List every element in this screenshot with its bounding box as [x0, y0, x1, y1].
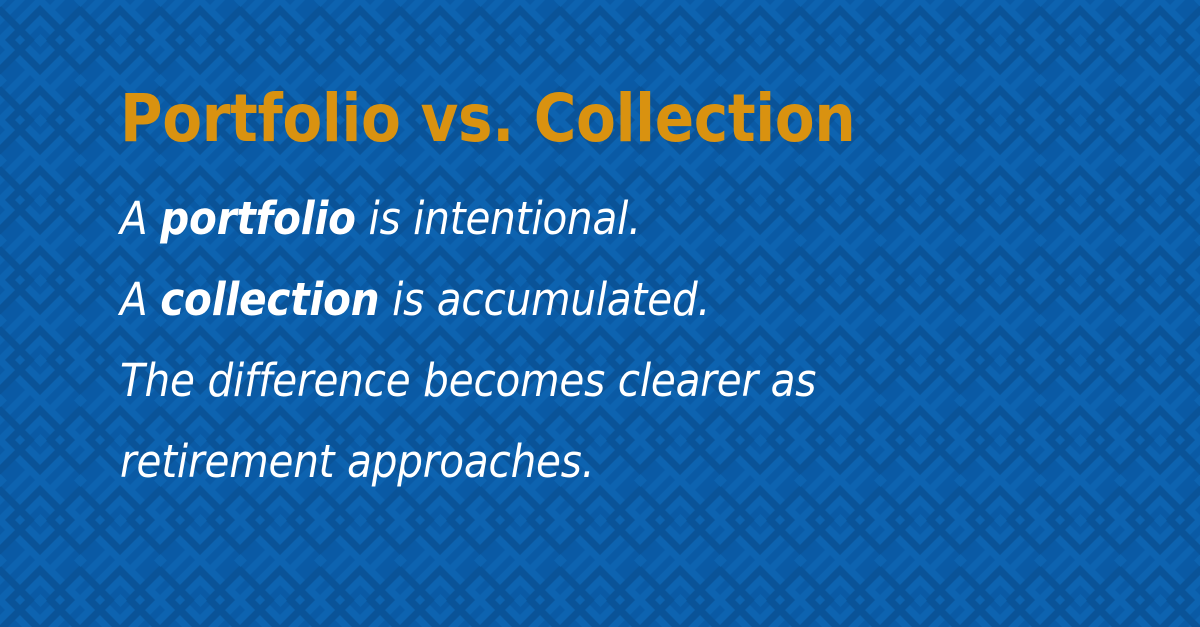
- body-text-block: A portfolio is intentional. A collection…: [120, 178, 1140, 502]
- quote-card-slide: Portfolio vs. Collection A portfolio is …: [0, 0, 1200, 627]
- body-line-1-after: is intentional.: [356, 192, 641, 245]
- body-line-3: The difference becomes clearer as: [120, 340, 1038, 421]
- body-line-2-emphasis: collection: [160, 273, 379, 326]
- slide-content: Portfolio vs. Collection A portfolio is …: [0, 0, 1200, 627]
- body-line-2: A collection is accumulated.: [120, 259, 1038, 340]
- body-line-2-after: is accumulated.: [379, 273, 710, 326]
- body-line-1-before: A: [120, 192, 160, 245]
- body-line-1-emphasis: portfolio: [160, 192, 356, 245]
- body-line-1: A portfolio is intentional.: [120, 178, 1038, 259]
- page-title: Portfolio vs. Collection: [120, 86, 1018, 152]
- body-line-4: retirement approaches.: [120, 421, 1038, 502]
- body-line-2-before: A: [120, 273, 160, 326]
